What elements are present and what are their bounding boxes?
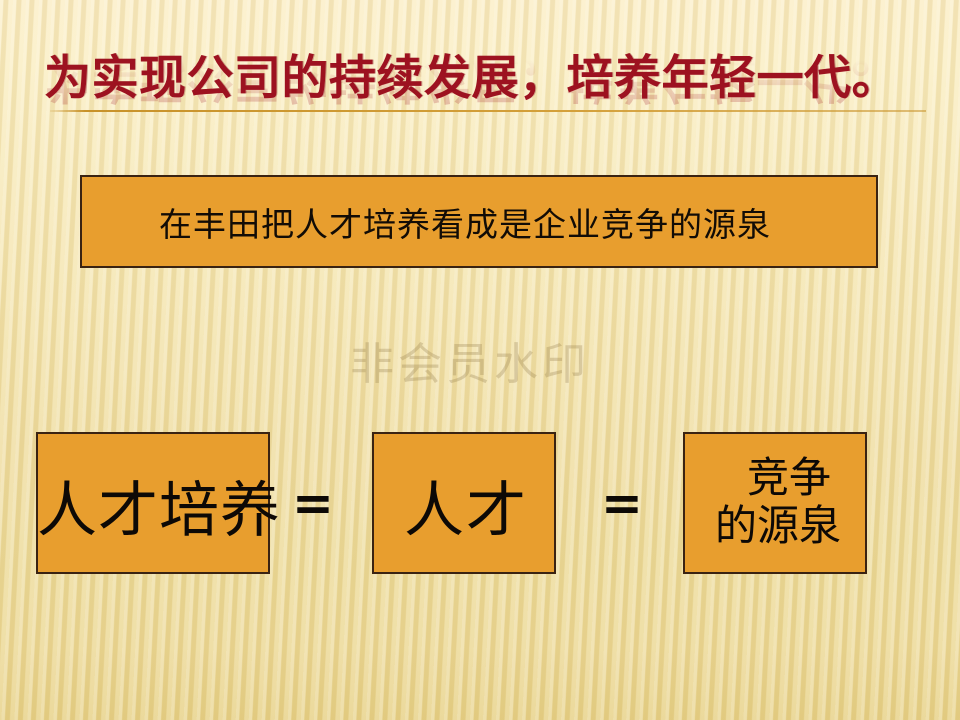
- equation-box-3-label: 竞争 的源泉: [737, 455, 841, 551]
- equation-box-talent: 人才: [372, 432, 556, 574]
- equation-box-2-label: 人才: [404, 462, 528, 549]
- slide-title-block: 为实现公司的持续发展，培养年轻一代。 为实现公司的持续发展，培养年轻一代。: [44, 48, 924, 148]
- callout-box: 在丰田把人才培养看成是企业竞争的源泉: [80, 175, 878, 268]
- equation-box-3-line-2: 的源泉: [715, 503, 841, 551]
- equation-box-1-label: 人才培养: [37, 462, 281, 549]
- equals-sign-1: =: [292, 478, 334, 528]
- equation-box-3-line-1: 竞争: [737, 455, 841, 503]
- equation-box-source-of-competition: 竞争 的源泉: [683, 432, 867, 574]
- slide-canvas: 为实现公司的持续发展，培养年轻一代。 为实现公司的持续发展，培养年轻一代。 在丰…: [0, 0, 960, 720]
- watermark-text: 非会员水印: [350, 328, 590, 392]
- equation-box-talent-development: 人才培养: [36, 432, 270, 574]
- slide-title: 为实现公司的持续发展，培养年轻一代。: [44, 48, 924, 110]
- equals-sign-2: =: [601, 478, 643, 528]
- callout-text: 在丰田把人才培养看成是企业竞争的源泉: [159, 198, 771, 246]
- title-underline-rule: [50, 110, 926, 112]
